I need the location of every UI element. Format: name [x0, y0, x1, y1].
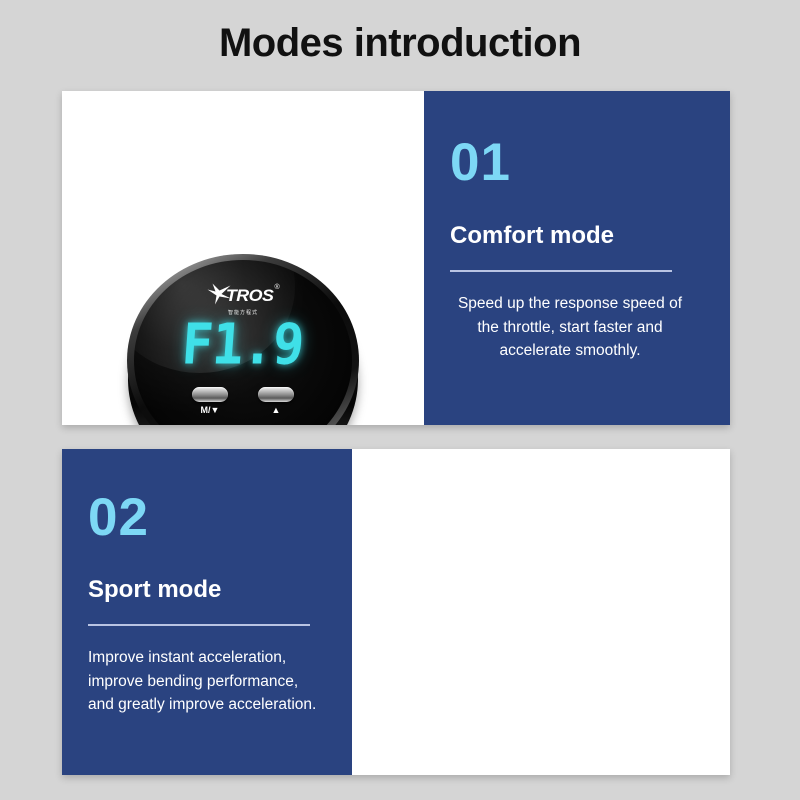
- up-button[interactable]: ▲: [258, 387, 294, 415]
- mode-down-button[interactable]: M/▼: [192, 387, 228, 415]
- divider: [450, 270, 672, 272]
- mode-info-pane-comfort: 01 Comfort mode Speed up the response sp…: [424, 91, 730, 425]
- throttle-controller-device-comfort: TROS ® 智能方程式 F1.9 M/▼ ▲: [127, 254, 359, 425]
- up-button-cap[interactable]: [258, 387, 294, 402]
- mode-number-02: 02: [88, 491, 326, 544]
- mode-card-comfort: TROS ® 智能方程式 F1.9 M/▼ ▲: [62, 91, 730, 425]
- registered-trademark-icon: ®: [275, 284, 280, 291]
- device-button-row: M/▼ ▲: [134, 387, 351, 415]
- led-display-comfort: F1.9: [134, 317, 351, 373]
- mode-down-button-label: M/▼: [201, 406, 220, 415]
- mode-down-button-cap[interactable]: [192, 387, 228, 402]
- divider: [88, 624, 310, 626]
- mode-name-comfort: Comfort mode: [450, 224, 704, 248]
- page-title: Modes introduction: [0, 18, 800, 68]
- mode-description-sport: Improve instant acceleration, improve be…: [88, 646, 326, 717]
- device-photo-pane-comfort: TROS ® 智能方程式 F1.9 M/▼ ▲: [62, 91, 424, 425]
- brand-logo: TROS ® 智能方程式: [134, 283, 351, 316]
- device-face: TROS ® 智能方程式 F1.9 M/▼ ▲: [134, 260, 351, 425]
- mode-info-pane-sport: 02 Sport mode Improve instant accelerati…: [62, 449, 352, 775]
- up-button-label: ▲: [272, 406, 281, 415]
- device-photo-pane-sport: TROS ® 智能方程式 F2.9 M/▼ ▲: [352, 449, 730, 775]
- mode-number-01: 01: [450, 136, 704, 189]
- mode-card-sport: TROS ® 智能方程式 F2.9 M/▼ ▲: [62, 449, 730, 775]
- mode-description-comfort: Speed up the response speed of the throt…: [450, 292, 690, 363]
- mode-name-sport: Sport mode: [88, 578, 326, 602]
- brand-name: TROS: [226, 287, 273, 304]
